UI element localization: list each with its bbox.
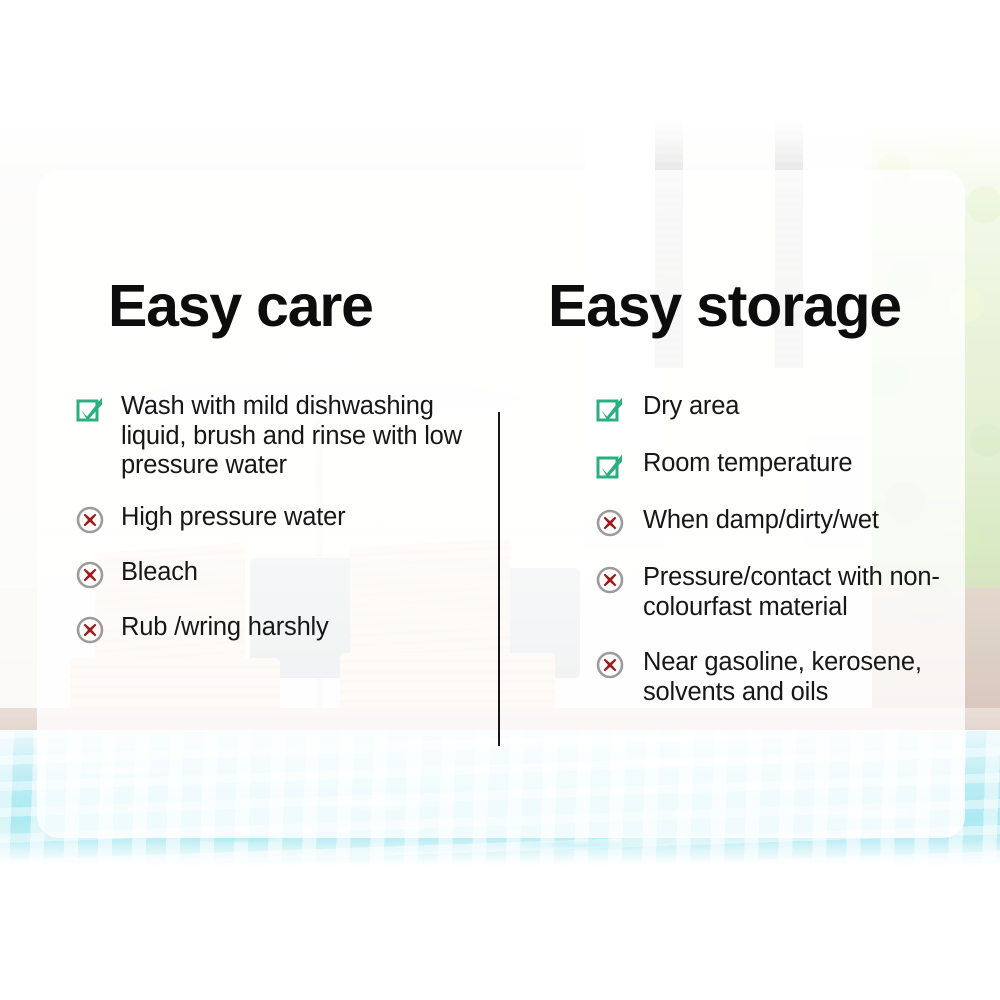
list-item-label: Bleach (121, 558, 198, 588)
list-item-label: Dry area (643, 392, 739, 422)
list-item: Near gasoline, kerosene, solvents and oi… (596, 648, 946, 707)
list-item-label: When damp/dirty/wet (643, 506, 879, 536)
heading-easy-storage: Easy storage (548, 277, 901, 336)
easy-storage-list: Dry area Room temperature When damp/dirt… (596, 392, 946, 733)
list-item-label: Pressure/contact with non-colourfast mat… (643, 563, 946, 622)
list-item: High pressure water (76, 503, 476, 534)
photo-fade-bottom (0, 840, 1000, 866)
list-item-label: Wash with mild dishwashing liquid, brush… (121, 392, 476, 481)
check-icon (596, 452, 624, 480)
list-item-label: Near gasoline, kerosene, solvents and oi… (643, 648, 946, 707)
promo-infographic: Easy care Easy storage Wash with mild di… (0, 0, 1000, 1000)
heading-easy-care: Easy care (108, 277, 373, 336)
cross-icon (596, 509, 624, 537)
easy-care-list: Wash with mild dishwashing liquid, brush… (76, 392, 476, 666)
cross-icon (596, 566, 624, 594)
cross-icon (76, 506, 104, 534)
list-item: Room temperature (596, 449, 946, 480)
photo-fade-top (0, 118, 1000, 178)
check-icon (596, 395, 624, 423)
list-item: Rub /wring harshly (76, 613, 476, 644)
cross-icon (76, 616, 104, 644)
list-item: Wash with mild dishwashing liquid, brush… (76, 392, 476, 481)
list-item: When damp/dirty/wet (596, 506, 946, 537)
list-item-label: High pressure water (121, 503, 345, 533)
cross-icon (596, 651, 624, 679)
cross-icon (76, 561, 104, 589)
check-icon (76, 395, 104, 423)
list-item: Bleach (76, 558, 476, 589)
list-item: Pressure/contact with non-colourfast mat… (596, 563, 946, 622)
column-divider (498, 412, 500, 746)
list-item-label: Room temperature (643, 449, 852, 479)
list-item: Dry area (596, 392, 946, 423)
list-item-label: Rub /wring harshly (121, 613, 329, 643)
